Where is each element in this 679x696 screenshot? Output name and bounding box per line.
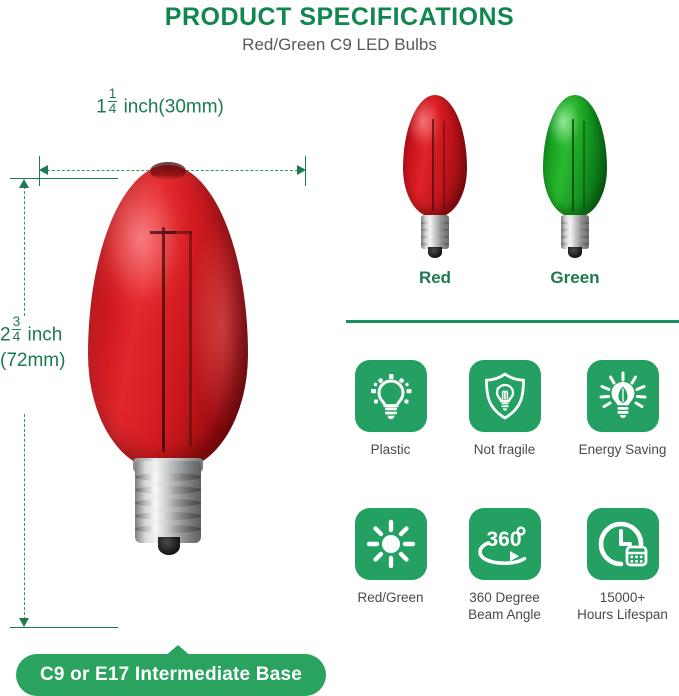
base-type-badge: C9 or E17 Intermediate Base bbox=[16, 654, 326, 696]
red-bulb-icon bbox=[403, 95, 467, 260]
shield-bulb-icon bbox=[469, 360, 541, 432]
green-bulb-filament bbox=[572, 119, 574, 211]
red-bulb-glass bbox=[403, 95, 467, 217]
section-divider bbox=[346, 320, 679, 323]
clock-calendar-icon bbox=[587, 508, 659, 580]
height-arrow-down-icon bbox=[19, 618, 29, 627]
bulb-glass bbox=[88, 165, 248, 470]
green-base-thread bbox=[561, 228, 589, 232]
feature-label-red-green: Red/Green bbox=[338, 589, 443, 606]
filament-vertical-wire bbox=[162, 227, 165, 452]
feature-row-2: Red/Green 360 360 Degree Beam Angle bbox=[330, 498, 679, 646]
green-bulb-filament-second bbox=[583, 121, 585, 209]
green-base-thread bbox=[561, 235, 589, 239]
width-numerator: 1 bbox=[108, 87, 118, 102]
base-thread bbox=[135, 473, 201, 481]
feature-not-fragile: Not fragile bbox=[452, 350, 557, 458]
comparison-item-red: Red bbox=[360, 95, 510, 288]
feature-energy-saving: Energy Saving bbox=[570, 350, 675, 458]
bulb-rays-icon bbox=[355, 360, 427, 432]
base-thread bbox=[135, 499, 201, 507]
height-arrow-up-icon bbox=[19, 179, 29, 188]
green-base-tip bbox=[568, 247, 582, 258]
base-thread bbox=[135, 525, 201, 533]
lifespan-line-2: Hours Lifespan bbox=[577, 607, 668, 622]
green-bulb-icon bbox=[543, 95, 607, 260]
height-denominator: 4 bbox=[12, 330, 22, 344]
width-arrow-right-icon bbox=[297, 165, 306, 175]
feature-beam-angle: 360 360 Degree Beam Angle bbox=[452, 498, 557, 623]
feature-row-1: Plastic bbox=[330, 350, 679, 498]
comparison-label-red: Red bbox=[360, 268, 510, 288]
feature-red-green: Red/Green bbox=[338, 498, 443, 606]
svg-text:360: 360 bbox=[486, 528, 521, 551]
feature-plastic: Plastic bbox=[338, 350, 443, 458]
color-comparison-panel: Red Green bbox=[330, 95, 679, 320]
comparison-item-green: Green bbox=[500, 95, 650, 288]
height-dashed-line-lower bbox=[24, 414, 25, 620]
green-base-thread bbox=[561, 242, 589, 246]
lifespan-line-1: 15000+ bbox=[600, 590, 645, 605]
height-fraction: 34 bbox=[12, 315, 22, 343]
width-dimension-label: 114 inch(30mm) bbox=[0, 88, 320, 119]
page-subtitle: Red/Green C9 LED Bulbs bbox=[0, 33, 679, 57]
green-bulb-glass bbox=[543, 95, 607, 217]
feature-label-lifespan: 15000+ Hours Lifespan bbox=[570, 589, 675, 623]
base-thread bbox=[135, 512, 201, 520]
height-whole-number: 2 bbox=[0, 325, 11, 346]
feature-label-plastic: Plastic bbox=[338, 441, 443, 458]
red-base-thread bbox=[421, 235, 449, 239]
feature-label-beam-angle: 360 Degree Beam Angle bbox=[452, 589, 557, 623]
height-extension-bottom bbox=[10, 627, 118, 628]
height-dashed-line-upper bbox=[24, 186, 25, 316]
height-unit: inch bbox=[27, 325, 62, 346]
width-fraction: 14 bbox=[108, 87, 118, 115]
red-base-thread bbox=[421, 242, 449, 246]
red-base-tip bbox=[428, 247, 442, 258]
page-header: PRODUCT SPECIFICATIONS Red/Green C9 LED … bbox=[0, 0, 679, 57]
comparison-label-green: Green bbox=[500, 268, 650, 288]
filament-return-wire bbox=[189, 231, 192, 446]
width-unit: inch(30mm) bbox=[124, 97, 224, 118]
feature-grid: Plastic bbox=[330, 350, 679, 639]
main-red-bulb-image bbox=[88, 165, 248, 585]
red-base-thread bbox=[421, 228, 449, 232]
height-numerator: 3 bbox=[12, 315, 22, 330]
page-title: PRODUCT SPECIFICATIONS bbox=[0, 2, 679, 32]
bulb-leaf-icon bbox=[587, 360, 659, 432]
height-metric: (72mm) bbox=[0, 350, 65, 371]
main-bulb-panel: 114 inch(30mm) 234 inch (72mm) bbox=[0, 70, 330, 639]
feature-label-not-fragile: Not fragile bbox=[452, 441, 557, 458]
height-dimension-line bbox=[10, 178, 40, 628]
width-denominator: 4 bbox=[108, 102, 118, 116]
sun-icon bbox=[355, 508, 427, 580]
bulb-glass-tip bbox=[150, 162, 186, 180]
beam-angle-line-2: Beam Angle bbox=[468, 607, 541, 622]
red-bulb-filament bbox=[432, 119, 434, 211]
base-type-badge-wrapper: C9 or E17 Intermediate Base bbox=[16, 645, 326, 695]
base-tip-contact bbox=[158, 537, 180, 555]
base-thread bbox=[135, 486, 201, 494]
red-bulb-filament-second bbox=[443, 121, 445, 209]
width-arrow-left-icon bbox=[39, 165, 48, 175]
feature-lifespan: 15000+ Hours Lifespan bbox=[570, 498, 675, 623]
360-degree-icon: 360 bbox=[469, 508, 541, 580]
beam-angle-line-1: 360 Degree bbox=[469, 590, 540, 605]
red-base-thread bbox=[421, 221, 449, 225]
product-specification-page: PRODUCT SPECIFICATIONS Red/Green C9 LED … bbox=[0, 0, 679, 639]
green-base-thread bbox=[561, 221, 589, 225]
width-whole-number: 1 bbox=[96, 97, 107, 118]
feature-label-energy-saving: Energy Saving bbox=[570, 441, 675, 458]
color-comparison-row: Red Green bbox=[330, 95, 679, 320]
